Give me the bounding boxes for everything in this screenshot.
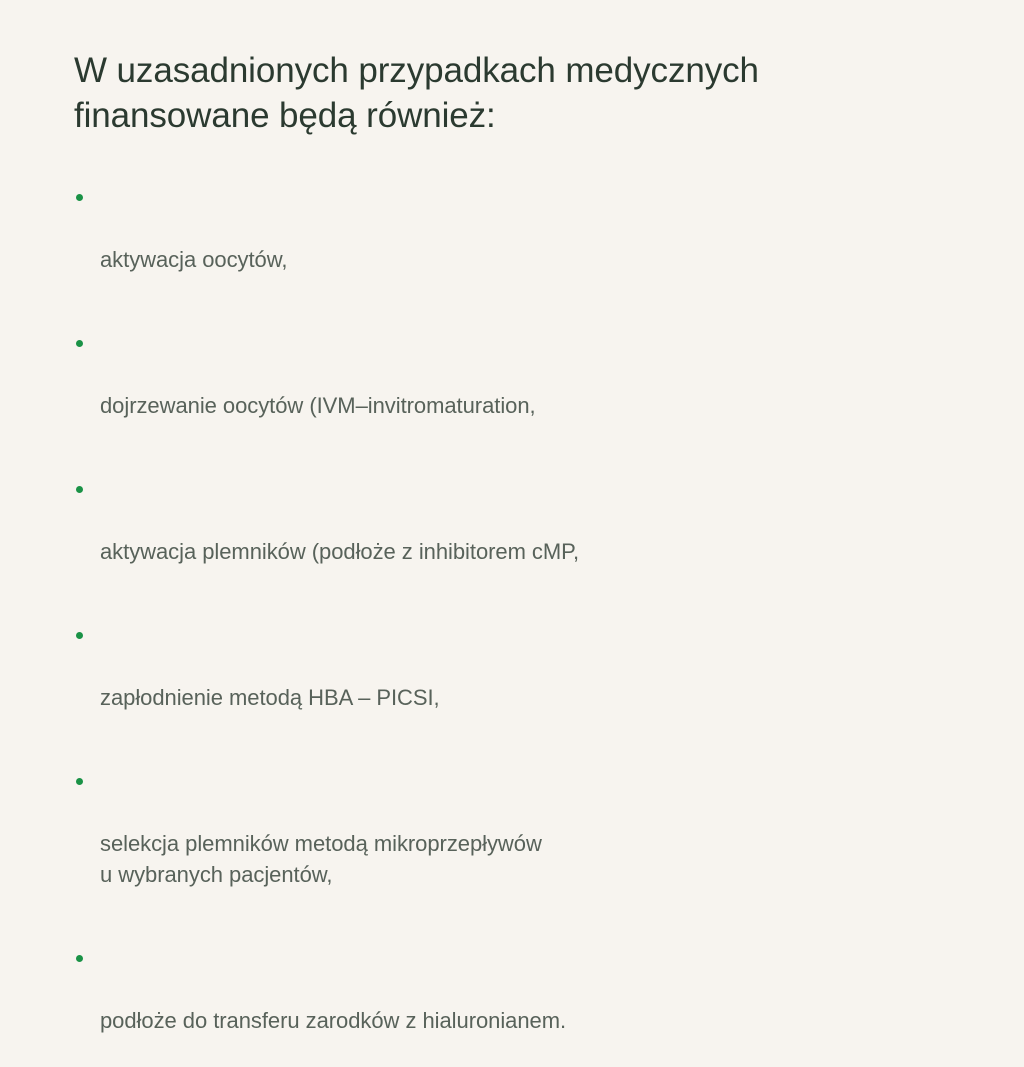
page-title: W uzasadnionych przypadkach medycznych f… bbox=[74, 48, 904, 138]
list-item-label: aktywacja oocytów, bbox=[100, 244, 900, 275]
list-item: zapłodnienie metodą HBA – PICSI, bbox=[74, 620, 900, 744]
bullet-dot-icon bbox=[76, 632, 83, 639]
list-item: dojrzewanie oocytów (IVM–invitromaturati… bbox=[74, 328, 900, 452]
bullet-dot-icon bbox=[76, 340, 83, 347]
bullet-dot-icon bbox=[76, 778, 83, 785]
slide-root: W uzasadnionych przypadkach medycznych f… bbox=[0, 0, 1024, 549]
bullet-dot-icon bbox=[76, 486, 83, 493]
list-item: selekcja plemników metodą mikroprzepływó… bbox=[74, 766, 900, 921]
bullet-dot-icon bbox=[76, 955, 83, 962]
list-item-label: selekcja plemników metodą mikroprzepływó… bbox=[100, 828, 900, 890]
list-item: aktywacja oocytów, bbox=[74, 182, 900, 306]
list-item: podłoże do transferu zarodków z hialuron… bbox=[74, 943, 900, 1067]
list-item-label: podłoże do transferu zarodków z hialuron… bbox=[100, 1005, 900, 1036]
list-item-label: aktywacja plemników (podłoże z inhibitor… bbox=[100, 536, 900, 567]
benefits-list: aktywacja oocytów, dojrzewanie oocytów (… bbox=[74, 182, 984, 1067]
list-item-label: dojrzewanie oocytów (IVM–invitromaturati… bbox=[100, 390, 900, 421]
list-item: aktywacja plemników (podłoże z inhibitor… bbox=[74, 474, 900, 598]
content-block: W uzasadnionych przypadkach medycznych f… bbox=[74, 48, 984, 1067]
bullet-dot-icon bbox=[76, 194, 83, 201]
list-item-label: zapłodnienie metodą HBA – PICSI, bbox=[100, 682, 900, 713]
